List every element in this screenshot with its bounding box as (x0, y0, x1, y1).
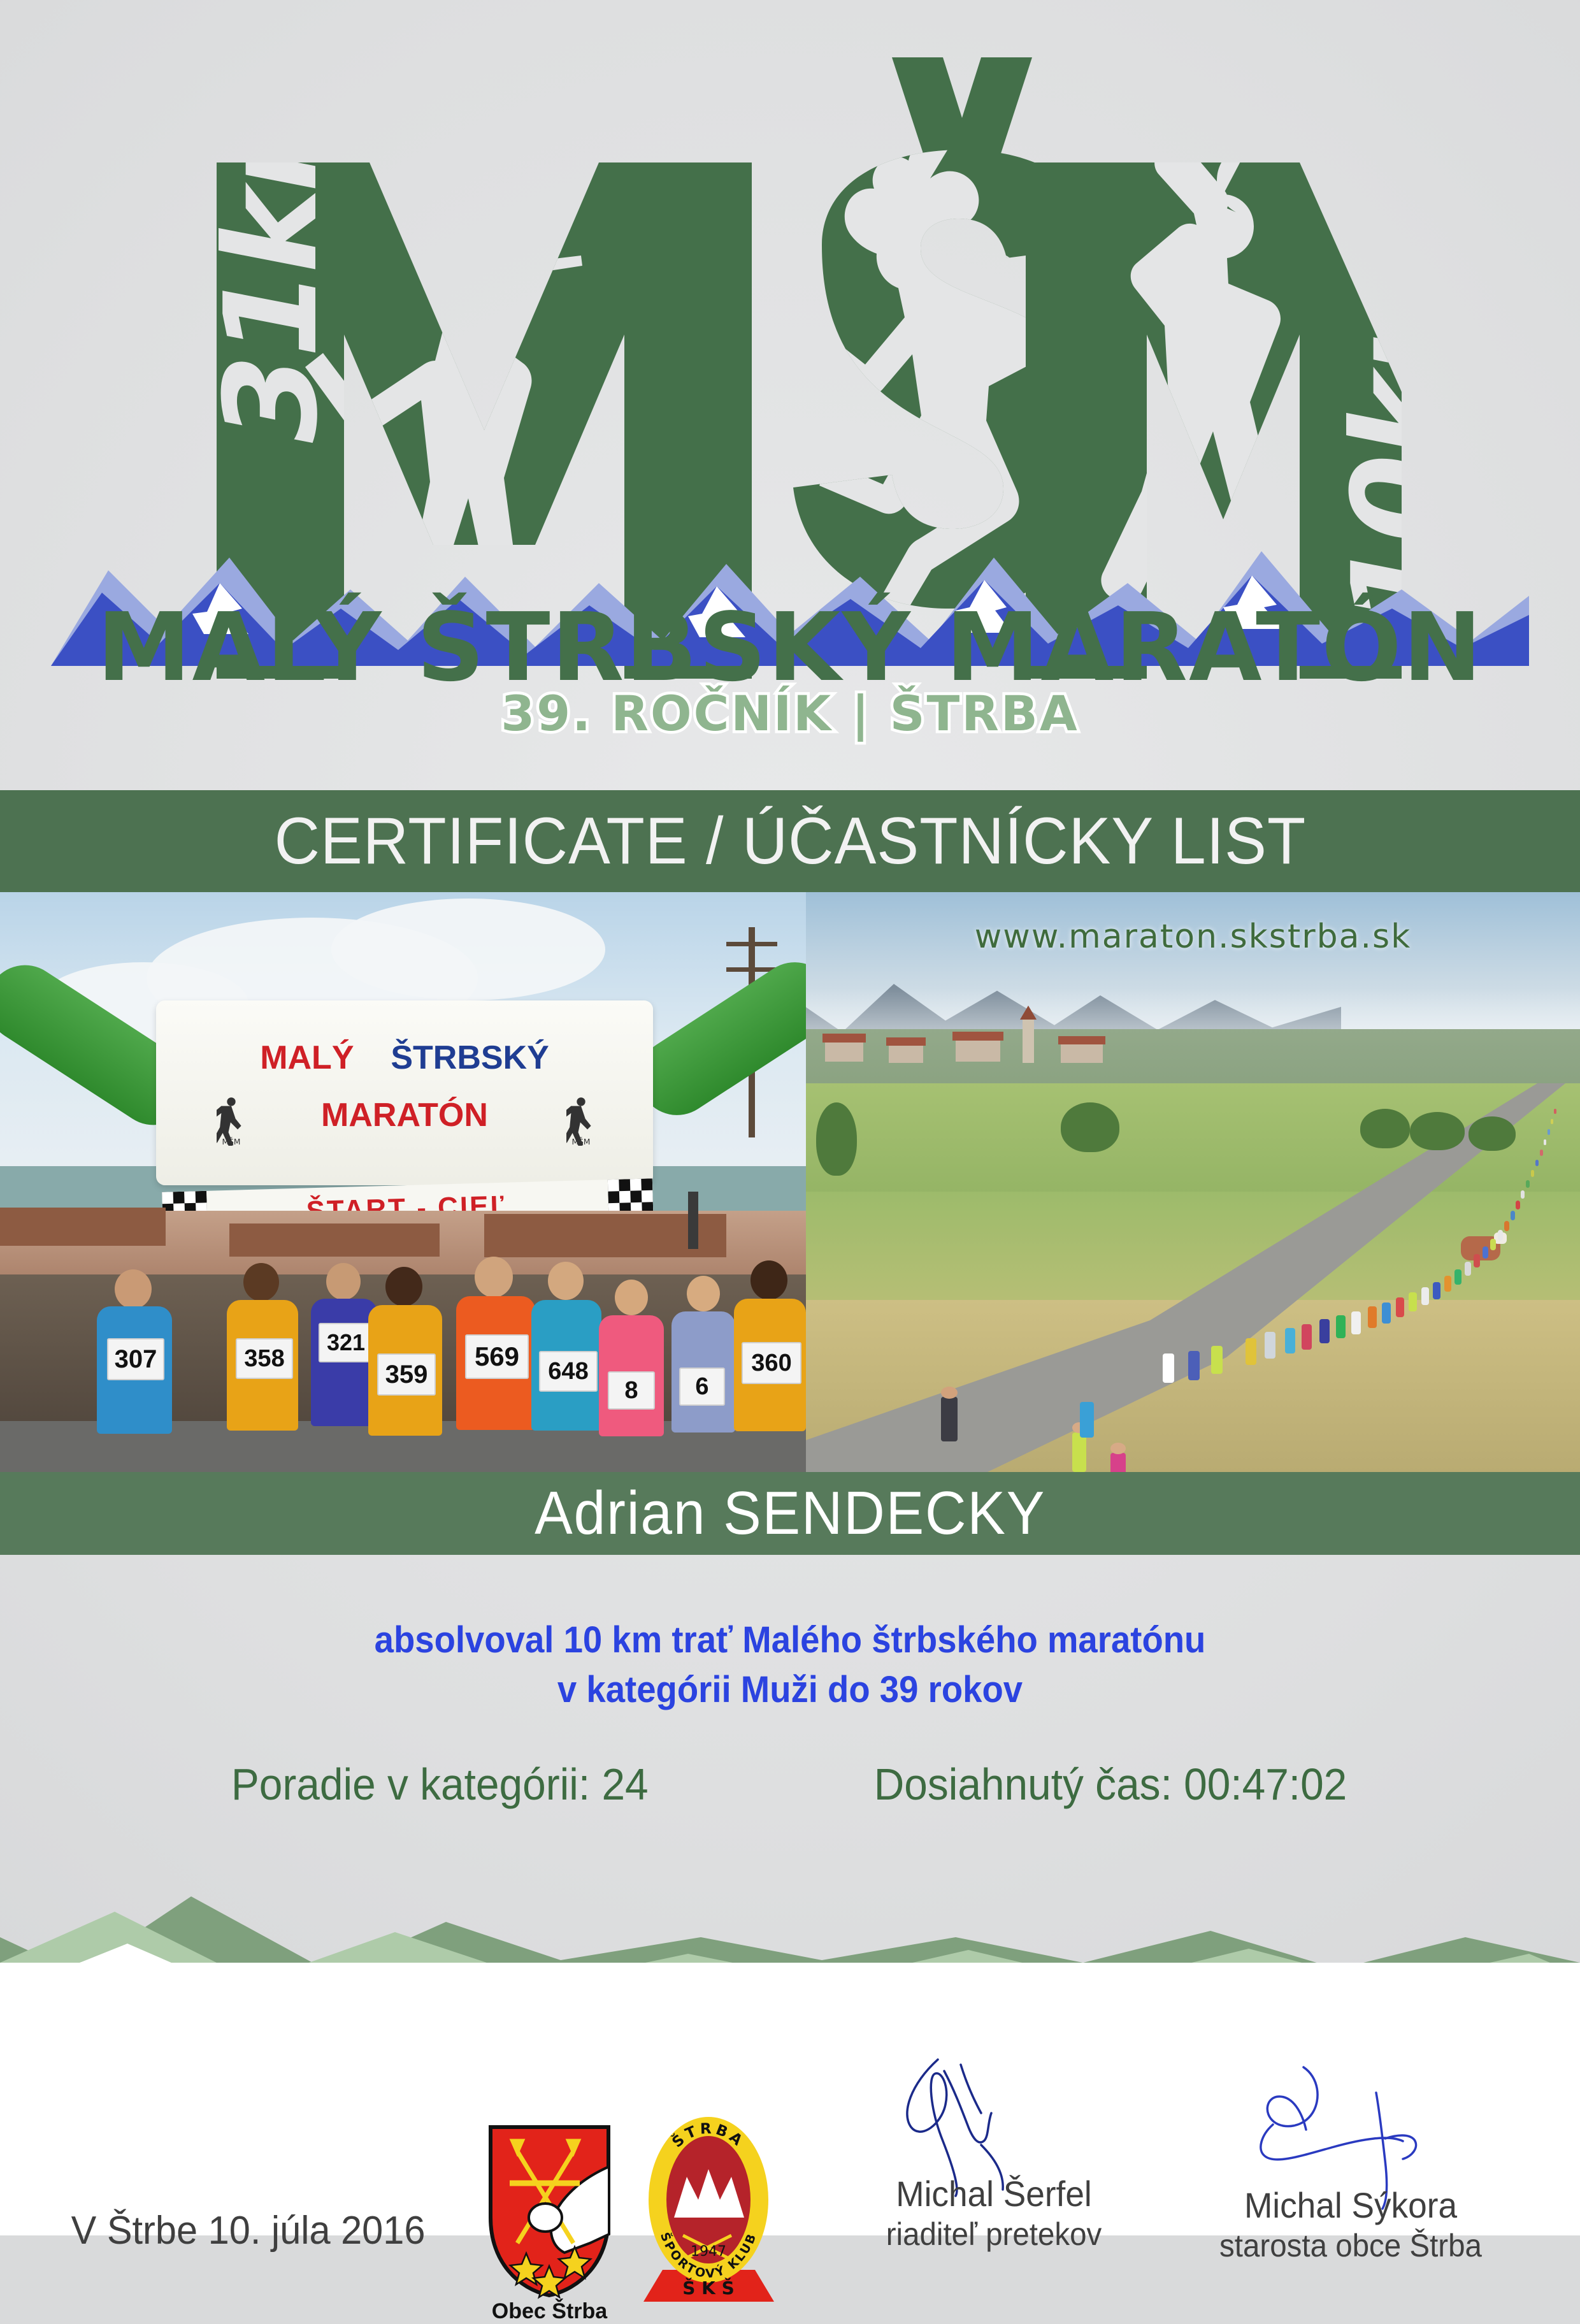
photo-start-line: MALÝ ŠTRBSKÝ MARATÓN MŠM MŠM (0, 892, 806, 1472)
sks-bottom-text: Š K Š (682, 2277, 735, 2299)
runner (1465, 1262, 1471, 1276)
runner (1544, 1139, 1546, 1145)
runner-head (115, 1269, 152, 1309)
arch-word-maly: MALÝ (260, 1039, 354, 1076)
runner (1516, 1201, 1520, 1209)
runner-head (326, 1263, 361, 1300)
runner (1368, 1306, 1377, 1328)
logo-subtitle: 39. ROČNÍK | ŠTRBA (0, 685, 1580, 742)
runner-head (1110, 1443, 1126, 1454)
obec-strba-crest (484, 2122, 615, 2300)
arch-word-maraton: MARATÓN (321, 1097, 488, 1134)
roof (229, 1223, 440, 1257)
arch-runner-glyph: MŠM (217, 1096, 246, 1146)
website-url: www.maraton.skstrba.sk (806, 918, 1580, 956)
runner (1504, 1221, 1509, 1231)
runner (1490, 1239, 1496, 1250)
runner (1454, 1269, 1461, 1285)
runner (1498, 1230, 1503, 1241)
runner (1246, 1338, 1256, 1365)
footer: V Štrbe 10. júla 2016 Obec Štrba (0, 1963, 1580, 2235)
runner (1080, 1402, 1094, 1438)
runner (1483, 1246, 1488, 1259)
runner (1421, 1287, 1429, 1305)
runner (1526, 1180, 1530, 1188)
runner (1474, 1254, 1480, 1267)
runner (1531, 1170, 1534, 1177)
runner (1319, 1319, 1330, 1343)
village-building (825, 1040, 863, 1062)
runner (1351, 1311, 1361, 1334)
runner-bib: 360 (742, 1342, 801, 1384)
village-roof (886, 1037, 926, 1046)
runner (1511, 1211, 1515, 1220)
category-rank: Poradie v kategórii: 24 (231, 1759, 649, 1810)
signature-name: Michal Sýkora (1181, 2184, 1520, 2226)
arch-text-line-1: MALÝ ŠTRBSKÝ (156, 1039, 653, 1077)
tree (1061, 1102, 1119, 1152)
crest-caption: Obec Štrba (484, 2299, 615, 2324)
logo-zone: 31km 10km (0, 0, 1580, 771)
runner (1433, 1282, 1440, 1299)
finish-time: Dosiahnutý čas: 00:47:02 (874, 1759, 1347, 1810)
runner-bib: 648 (539, 1351, 598, 1392)
details-section: absolvoval 10 km trať Malého štrbského m… (0, 1555, 1580, 1848)
runner-head (750, 1260, 787, 1300)
photo-strip: MALÝ ŠTRBSKÝ MARATÓN MŠM MŠM (0, 892, 1580, 1472)
runner (1535, 1160, 1539, 1166)
description-line-1: absolvoval 10 km trať Malého štrbského m… (47, 1615, 1532, 1665)
runner (1444, 1276, 1451, 1292)
village-roof (1058, 1036, 1105, 1044)
issue-date: V Štrbe 10. júla 2016 (71, 2208, 426, 2253)
runner-bib: 307 (107, 1338, 164, 1380)
signature-role: starosta obce Štrba (1181, 2227, 1520, 2264)
category-rank-label: Poradie v kategórii: (231, 1759, 590, 1809)
runner-bib: 8 (608, 1371, 655, 1410)
signature-block-mayor: Michal Sýkora starosta obce Štrba (1172, 2184, 1529, 2264)
runner (1382, 1303, 1391, 1324)
sks-club-logo: 1947 ŠTRBA ŠPORTOVÝ KLUB Š K Š (643, 2111, 774, 2302)
runner (1409, 1292, 1417, 1311)
village-building (956, 1039, 1000, 1062)
runner (1163, 1353, 1174, 1383)
svg-text:MŠM: MŠM (222, 1137, 241, 1146)
participant-name-band: Adrian SENDECKY (0, 1472, 1580, 1555)
runner (1072, 1433, 1086, 1472)
certificate-title: CERTIFICATE / ÚČASTNÍCKY LIST (274, 804, 1306, 879)
runner (1336, 1315, 1346, 1338)
tree (1410, 1112, 1465, 1150)
runner (1265, 1332, 1275, 1359)
church-tower (1023, 1017, 1034, 1063)
runner-head (385, 1267, 422, 1306)
svg-text:MŠM: MŠM (572, 1137, 591, 1146)
category-rank-value: 24 (601, 1759, 648, 1809)
runner (1540, 1150, 1543, 1156)
runner-bib: 321 (319, 1323, 373, 1362)
street-sign-pole (688, 1192, 698, 1249)
finish-time-label: Dosiahnutý čas: (874, 1759, 1172, 1809)
results-row: Poradie v kategórii: 24 Dosiahnutý čas: … (0, 1759, 1580, 1810)
inflatable-arch-banner: MALÝ ŠTRBSKÝ MARATÓN MŠM MŠM (156, 1000, 653, 1185)
runner-head (243, 1263, 279, 1301)
runner (1396, 1297, 1404, 1317)
description-line-2: v kategórii Muži do 39 rokov (47, 1665, 1532, 1715)
runner-bib: 569 (465, 1334, 529, 1379)
finish-time-value: 00:47:02 (1184, 1759, 1347, 1809)
runner (1188, 1351, 1200, 1380)
tree (1360, 1109, 1410, 1148)
achievement-description: absolvoval 10 km trať Malého štrbského m… (47, 1615, 1532, 1715)
certificate-title-band: CERTIFICATE / ÚČASTNÍCKY LIST (0, 790, 1580, 892)
village-roof (952, 1032, 1003, 1041)
roof (0, 1208, 166, 1246)
runner (1285, 1328, 1295, 1353)
runner-bib: 6 (679, 1368, 725, 1406)
village-building (889, 1044, 923, 1063)
runner (1110, 1453, 1126, 1472)
runner-head (548, 1262, 584, 1300)
runner-head (687, 1276, 720, 1311)
runner (1521, 1190, 1525, 1199)
village-roof (822, 1034, 866, 1043)
spectator-head (941, 1387, 958, 1399)
signature-role: riaditeľ pretekov (824, 2216, 1163, 2253)
tree (816, 1102, 857, 1176)
certificate-page: 31km 10km (0, 0, 1580, 2235)
arch-runner-glyph: MŠM (566, 1096, 596, 1146)
tree (1469, 1116, 1516, 1151)
runner-head (615, 1280, 648, 1315)
spectator (941, 1397, 958, 1441)
participant-name: Adrian SENDECKY (535, 1478, 1045, 1548)
msm-logo: 31km 10km (178, 35, 1402, 679)
signature-name: Michal Šerfel (824, 2173, 1163, 2214)
runner-head (475, 1257, 513, 1297)
pole-crossbar (726, 942, 777, 946)
runner-bib: 359 (377, 1353, 436, 1396)
runner (1302, 1324, 1312, 1350)
runner-bib: 358 (236, 1338, 293, 1379)
runner (1551, 1119, 1553, 1124)
runner (1554, 1109, 1556, 1114)
arch-word-strbsky: ŠTRBSKÝ (391, 1039, 549, 1076)
sks-year: 1947 (691, 2244, 726, 2260)
village-building (1061, 1043, 1103, 1063)
runner-torso (311, 1299, 377, 1426)
signature-block-director: Michal Šerfel riaditeľ pretekov (815, 2173, 1172, 2253)
runner (1211, 1346, 1223, 1374)
cloud (331, 899, 605, 1000)
photo-countryside: www.maraton.skstrba.sk (806, 892, 1580, 1472)
runner (1548, 1129, 1550, 1135)
